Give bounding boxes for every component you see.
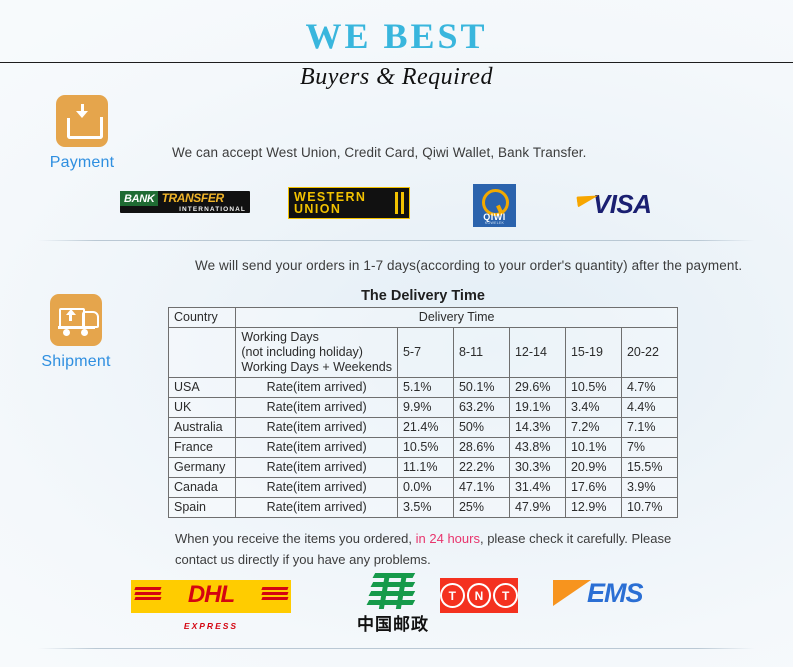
header-country-blank (169, 328, 236, 378)
row-value: 25% (453, 498, 509, 518)
bank-transfer-word-transfer: TRANSFER (158, 191, 227, 206)
row-value: 10.7% (621, 498, 677, 518)
row-value: 29.6% (509, 378, 565, 398)
dhl-express-subtext: EXPRESS (131, 621, 291, 631)
row-rate-label: Rate(item arrived) (236, 418, 398, 438)
qiwi-subtext: KOWELEK (473, 221, 516, 225)
tnt-letter: T (440, 583, 465, 608)
china-post-wordmark: 中国邮政 (338, 610, 448, 635)
dhl-logo: DHL EXPRESS (131, 580, 291, 613)
table-row: Australia Rate(item arrived) 21.4% 50% 1… (169, 418, 678, 438)
day-range-1: 8-11 (453, 328, 509, 378)
row-value: 0.0% (397, 478, 453, 498)
row-value: 10.1% (565, 438, 621, 458)
section-divider-top (38, 240, 755, 241)
row-value: 7% (621, 438, 677, 458)
payment-label: Payment (34, 154, 130, 172)
header-divider (0, 62, 793, 63)
row-value: 15.5% (621, 458, 677, 478)
table-row: UK Rate(item arrived) 9.9% 63.2% 19.1% 3… (169, 398, 678, 418)
row-country: France (169, 438, 236, 458)
bank-transfer-logo: BANK TRANSFER INTERNATIONAL (120, 191, 250, 213)
wu-bar (401, 192, 404, 214)
tray-shape (67, 117, 103, 139)
row-rate-label: Rate(item arrived) (236, 458, 398, 478)
row-rate-label: Rate(item arrived) (236, 378, 398, 398)
working-days-line3: Working Days + Weekends (241, 360, 392, 375)
day-range-0: 5-7 (397, 328, 453, 378)
bank-transfer-row: BANK TRANSFER (120, 191, 250, 206)
row-country: Spain (169, 498, 236, 518)
day-range-4: 20-22 (621, 328, 677, 378)
row-value: 7.2% (565, 418, 621, 438)
row-value: 47.1% (453, 478, 509, 498)
row-value: 7.1% (621, 418, 677, 438)
day-range-2: 12-14 (509, 328, 565, 378)
visa-logo: VISA (575, 190, 695, 220)
table-row: USA Rate(item arrived) 5.1% 50.1% 29.6% … (169, 378, 678, 398)
row-value: 5.1% (397, 378, 453, 398)
note-before: When you receive the items you ordered, (175, 531, 412, 546)
row-value: 63.2% (453, 398, 509, 418)
row-value: 4.7% (621, 378, 677, 398)
row-value: 43.8% (509, 438, 565, 458)
bank-transfer-word-bank: BANK (120, 191, 158, 206)
china-post-logo: 中国邮政 (338, 572, 448, 634)
tnt-letter: N (467, 583, 492, 608)
table-row: France Rate(item arrived) 10.5% 28.6% 43… (169, 438, 678, 458)
row-country: UK (169, 398, 236, 418)
row-value: 3.9% (621, 478, 677, 498)
tnt-letter: T (493, 583, 518, 608)
row-value: 47.9% (509, 498, 565, 518)
working-days-line2: (not including holiday) (241, 345, 392, 360)
carrier-logos: DHL EXPRESS 中国邮政 T (120, 572, 690, 634)
ems-wordmark: EMS (587, 578, 643, 608)
row-value: 3.5% (397, 498, 453, 518)
dhl-wordmark: DHL (131, 580, 291, 610)
table-header-row-2: Working Days (not including holiday) Wor… (169, 328, 678, 378)
header-country: Country (169, 308, 236, 328)
row-value: 31.4% (509, 478, 565, 498)
row-country: Canada (169, 478, 236, 498)
header-delivery-time: Delivery Time (236, 308, 678, 328)
tnt-logo: T N T (440, 578, 518, 613)
row-country: Germany (169, 458, 236, 478)
truck-box-arrow-stem (69, 313, 72, 321)
day-range-3: 15-19 (565, 328, 621, 378)
arrow-head (76, 111, 88, 118)
wu-bar (395, 192, 398, 214)
truck-chassis (58, 326, 95, 329)
page-title: WE BEST (0, 18, 793, 54)
payment-section-header: Payment (34, 95, 130, 172)
china-post-mark-icon (368, 572, 420, 610)
row-value: 21.4% (397, 418, 453, 438)
row-value: 50% (453, 418, 509, 438)
row-value: 4.4% (621, 398, 677, 418)
row-value: 10.5% (565, 378, 621, 398)
section-divider-bottom (38, 648, 755, 649)
row-value: 12.9% (565, 498, 621, 518)
row-rate-label: Rate(item arrived) (236, 438, 398, 458)
table-row: Germany Rate(item arrived) 11.1% 22.2% 3… (169, 458, 678, 478)
table-header-row-1: Country Delivery Time (169, 308, 678, 328)
table-row: Canada Rate(item arrived) 0.0% 47.1% 31.… (169, 478, 678, 498)
shipment-label: Shipment (28, 353, 124, 371)
working-days-line1: Working Days (241, 330, 392, 345)
row-value: 20.9% (565, 458, 621, 478)
table-row: Spain Rate(item arrived) 3.5% 25% 47.9% … (169, 498, 678, 518)
promo-banner: WE BEST Buyers & Required Payment We can… (0, 0, 793, 667)
payment-tray-download-icon (56, 95, 108, 147)
note-highlight: in 24 hours (416, 531, 480, 546)
ems-logo: EMS (553, 578, 683, 612)
shipment-note: When you receive the items you ordered, … (175, 528, 695, 570)
row-value: 3.4% (565, 398, 621, 418)
row-rate-label: Rate(item arrived) (236, 398, 398, 418)
delivery-table-title: The Delivery Time (168, 288, 678, 304)
shipment-description: We will send your orders in 1-7 days(acc… (195, 258, 742, 273)
row-value: 11.1% (397, 458, 453, 478)
row-value: 19.1% (509, 398, 565, 418)
header: WE BEST (0, 18, 793, 54)
row-value: 10.5% (397, 438, 453, 458)
western-union-line2: UNION (289, 203, 366, 216)
western-union-bars (395, 192, 404, 214)
payment-description: We can accept West Union, Credit Card, Q… (172, 145, 587, 160)
row-country: USA (169, 378, 236, 398)
header-subtitle: Buyers & Required (0, 64, 793, 91)
row-country: Australia (169, 418, 236, 438)
payment-logos: BANK TRANSFER INTERNATIONAL WESTERN UNIO… (120, 184, 680, 230)
row-value: 28.6% (453, 438, 509, 458)
row-value: 14.3% (509, 418, 565, 438)
bank-transfer-subtext: INTERNATIONAL (179, 206, 246, 213)
row-value: 22.2% (453, 458, 509, 478)
ems-triangle-icon (553, 580, 591, 606)
western-union-logo: WESTERN UNION (288, 187, 410, 219)
western-union-text-block: WESTERN UNION (289, 191, 366, 216)
working-days-cell: Working Days (not including holiday) Wor… (236, 328, 398, 378)
shipment-section-header: Shipment (28, 294, 124, 371)
row-value: 30.3% (509, 458, 565, 478)
delivery-time-table: Country Delivery Time Working Days (not … (168, 307, 678, 518)
row-value: 9.9% (397, 398, 453, 418)
row-value: 17.6% (565, 478, 621, 498)
truck-wheel (81, 329, 88, 336)
row-value: 50.1% (453, 378, 509, 398)
qiwi-logo: QIWI KOWELEK (473, 184, 516, 227)
row-rate-label: Rate(item arrived) (236, 498, 398, 518)
truck-wheel (63, 329, 70, 336)
row-rate-label: Rate(item arrived) (236, 478, 398, 498)
shipment-truck-icon (50, 294, 102, 346)
